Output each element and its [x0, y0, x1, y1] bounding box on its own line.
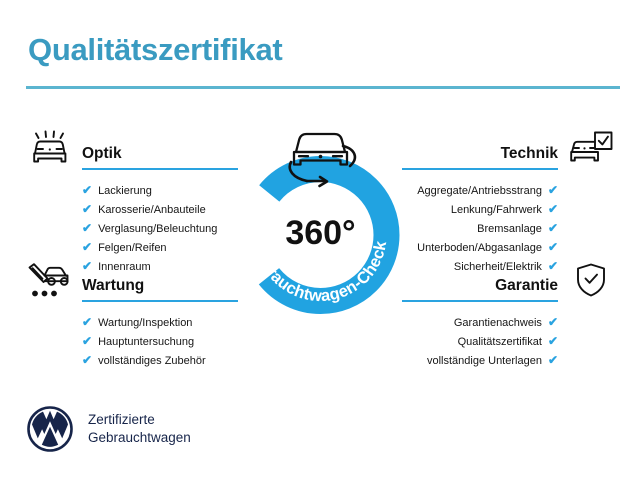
section-wartung-list: ✔Wartung/Inspektion ✔Hauptuntersuchung ✔… — [26, 314, 238, 371]
section-wartung-header: Wartung — [26, 262, 238, 302]
check-icon: ✔ — [82, 241, 92, 253]
list-item-label: Felgen/Reifen — [98, 239, 167, 258]
title-divider — [26, 86, 620, 89]
list-item: Lenkung/Fahrwerk✔ — [402, 201, 614, 220]
list-item: ✔Karosserie/Anbauteile — [26, 201, 238, 220]
shield-check-icon — [568, 262, 614, 300]
list-item: vollständige Unterlagen✔ — [402, 352, 614, 371]
section-technik-header: Technik — [402, 130, 614, 170]
wrench-car-icon — [26, 262, 72, 300]
list-item-label: vollständiges Zubehör — [98, 352, 206, 371]
list-item: ✔vollständiges Zubehör — [26, 352, 238, 371]
list-item: Unterboden/Abgasanlage✔ — [402, 239, 614, 258]
list-item-label: Garantienachweis — [454, 314, 542, 333]
section-garantie-title: Garantie — [495, 277, 558, 295]
section-garantie-underline — [402, 300, 558, 302]
badge-360-gebrauchtwagen-check: 360° Gebrauchtwagen-Check — [233, 122, 408, 322]
list-item: ✔Verglasung/Beleuchtung — [26, 220, 238, 239]
list-item-label: Verglasung/Beleuchtung — [98, 220, 217, 239]
check-icon: ✔ — [548, 222, 558, 234]
check-icon: ✔ — [82, 222, 92, 234]
footer-brand: Zertifizierte Gebrauchtwagen — [26, 405, 191, 453]
section-technik: Technik Aggregate/Antriebsstrang✔ Lenkun… — [402, 130, 614, 277]
section-wartung: Wartung ✔Wartung/Inspektion ✔Hauptunters… — [26, 262, 238, 371]
check-icon: ✔ — [82, 184, 92, 196]
section-wartung-underline — [82, 300, 238, 302]
list-item-label: Qualitätszertifikat — [458, 333, 542, 352]
section-garantie-list: Garantienachweis✔ Qualitätszertifikat✔ v… — [402, 314, 614, 371]
check-icon: ✔ — [548, 335, 558, 347]
section-technik-title: Technik — [501, 145, 558, 163]
check-icon: ✔ — [548, 203, 558, 215]
quality-certificate-page: Qualitätszertifikat Optik — [0, 0, 640, 480]
list-item-label: Unterboden/Abgasanlage — [417, 239, 542, 258]
list-item-label: Wartung/Inspektion — [98, 314, 192, 333]
list-item-label: Bremsanlage — [477, 220, 542, 239]
vw-logo — [26, 405, 74, 453]
page-title: Qualitätszertifikat — [28, 32, 282, 68]
list-item-label: Karosserie/Anbauteile — [98, 201, 206, 220]
list-item-label: vollständige Unterlagen — [427, 352, 542, 371]
check-icon: ✔ — [548, 241, 558, 253]
check-icon: ✔ — [548, 316, 558, 328]
list-item-label: Lenkung/Fahrwerk — [451, 201, 542, 220]
list-item: Bremsanlage✔ — [402, 220, 614, 239]
list-item: ✔Hauptuntersuchung — [26, 333, 238, 352]
list-item-label: Aggregate/Antriebsstrang — [417, 182, 542, 201]
check-icon: ✔ — [548, 184, 558, 196]
check-icon: ✔ — [82, 335, 92, 347]
list-item: ✔Felgen/Reifen — [26, 239, 238, 258]
check-icon: ✔ — [548, 354, 558, 366]
list-item-label: Lackierung — [98, 182, 152, 201]
section-technik-underline — [402, 168, 558, 170]
list-item: Aggregate/Antriebsstrang✔ — [402, 182, 614, 201]
list-item: ✔Wartung/Inspektion — [26, 314, 238, 333]
section-garantie-header: Garantie — [402, 262, 614, 302]
section-optik: Optik ✔Lackierung ✔Karosserie/Anbauteile… — [26, 130, 238, 277]
section-garantie: Garantie Garantienachweis✔ Qualitätszert… — [402, 262, 614, 371]
list-item: Qualitätszertifikat✔ — [402, 333, 614, 352]
section-wartung-title: Wartung — [82, 277, 144, 295]
badge-center-label: 360° — [285, 214, 355, 252]
check-icon: ✔ — [82, 316, 92, 328]
check-icon: ✔ — [82, 354, 92, 366]
list-item: Garantienachweis✔ — [402, 314, 614, 333]
check-icon: ✔ — [82, 203, 92, 215]
section-optik-header: Optik — [26, 130, 238, 170]
car-shine-icon — [26, 130, 72, 168]
list-item: ✔Lackierung — [26, 182, 238, 201]
footer-brand-text: Zertifizierte Gebrauchtwagen — [88, 411, 191, 447]
list-item-label: Hauptuntersuchung — [98, 333, 194, 352]
section-optik-title: Optik — [82, 145, 122, 163]
car-checkbox-icon — [568, 130, 614, 168]
section-optik-underline — [82, 168, 238, 170]
